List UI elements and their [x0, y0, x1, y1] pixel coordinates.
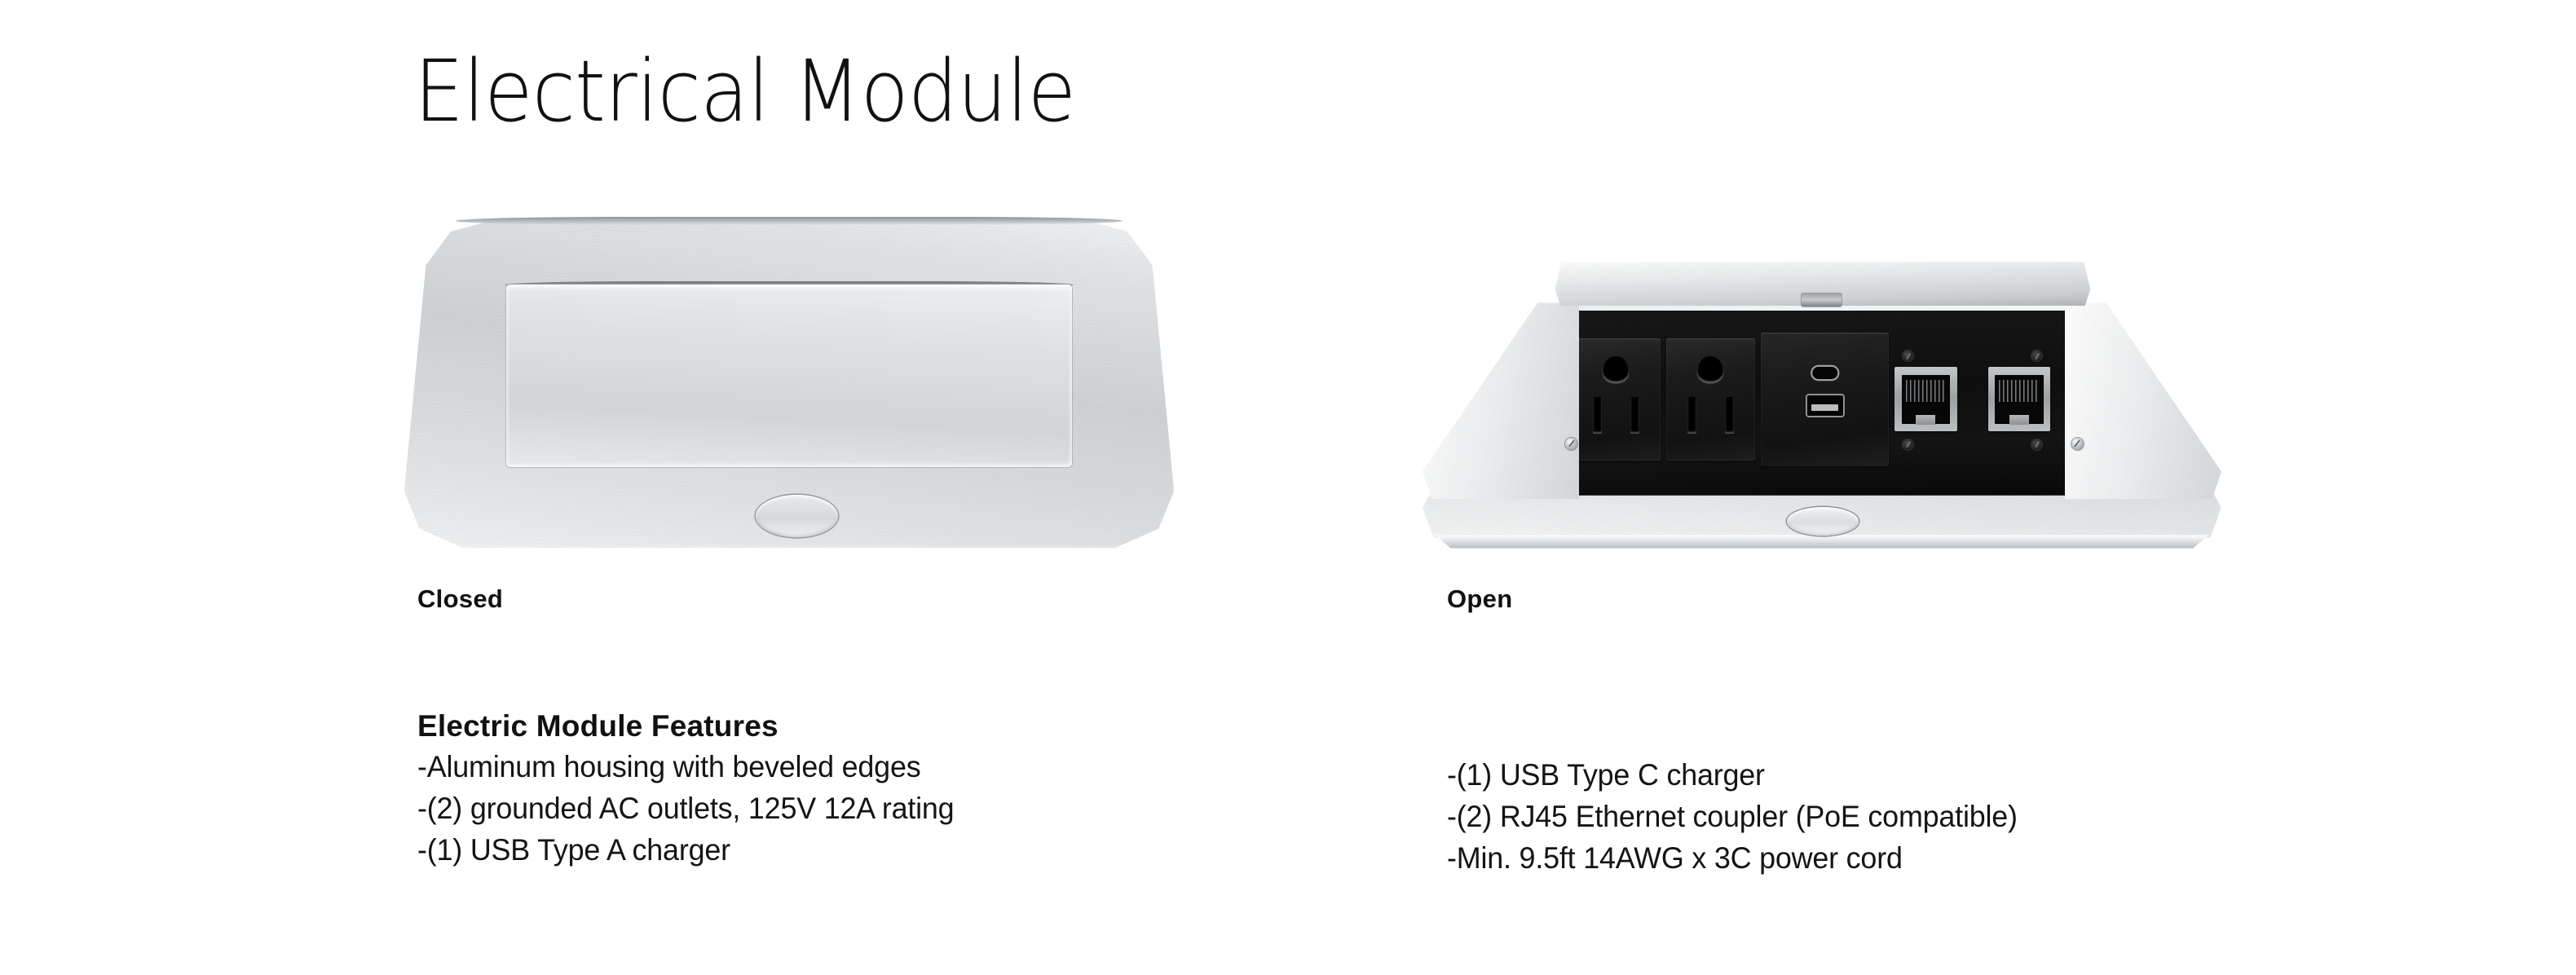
neutral-slot-icon: [1593, 397, 1602, 434]
ac-outlet-2: [1666, 338, 1756, 461]
hinge-screw-icon: [2071, 438, 2084, 450]
closed-module-image: [401, 210, 1177, 553]
features-heading: Electric Module Features: [417, 706, 971, 746]
feature-item: -Aluminum housing with beveled edges: [417, 746, 954, 787]
feature-item: -(2) grounded AC outlets, 125V 12A ratin…: [417, 787, 954, 829]
usb-c-port-icon: [1812, 367, 1838, 380]
screw-icon: [1903, 351, 1913, 361]
bezel-texture: [2065, 302, 2221, 499]
rj45-pins-icon: [1906, 380, 1946, 402]
page-title: Electrical Module: [414, 47, 1075, 136]
feature-item: -Min. 9.5ft 14AWG x 3C power cord: [1447, 837, 2018, 879]
neutral-slot-icon: [1687, 397, 1696, 434]
bezel-front-bevel: [1431, 535, 2213, 548]
feature-item: -(1) USB Type C charger: [1447, 754, 2018, 796]
ac-outlet-1: [1571, 338, 1661, 461]
usb-charger-plate: [1761, 333, 1890, 466]
rj45-jack-1: [1895, 367, 1956, 431]
caption-open: Open: [1447, 585, 1512, 614]
features-left-column: Electric Module Features -Aluminum housi…: [417, 706, 971, 871]
ground-pin-icon: [1697, 356, 1724, 383]
rj45-pins-icon: [1999, 380, 2039, 402]
closed-module-lid: [506, 285, 1071, 468]
ground-pin-icon: [1603, 356, 1630, 383]
caption-closed: Closed: [417, 585, 503, 614]
hot-slot-icon: [1630, 397, 1639, 434]
ethernet-jack-group: [1895, 329, 2050, 469]
features-right-column: -(1) USB Type C charger -(2) RJ45 Ethern…: [1447, 754, 2035, 879]
rj45-jack-2: [1988, 367, 2050, 431]
usb-a-port-icon: [1807, 395, 1843, 416]
screw-icon: [1903, 439, 1913, 450]
lid-latch-icon: [1802, 293, 1842, 307]
port-row: [1571, 327, 2072, 472]
feature-item: -(2) RJ45 Ethernet coupler (PoE compatib…: [1447, 796, 2018, 837]
screw-icon: [2031, 351, 2042, 361]
product-spec-page: Electrical Module Closed: [0, 0, 2576, 975]
feature-item: -(1) USB Type A charger: [417, 829, 954, 871]
bezel-top-bevel: [456, 217, 1123, 225]
bezel-texture: [1423, 302, 1579, 499]
oval-push-button-icon: [756, 495, 838, 537]
open-module-image: [1423, 236, 2221, 553]
hot-slot-icon: [1725, 397, 1734, 434]
screw-icon: [2031, 439, 2042, 450]
oval-push-button-icon: [1787, 507, 1859, 536]
